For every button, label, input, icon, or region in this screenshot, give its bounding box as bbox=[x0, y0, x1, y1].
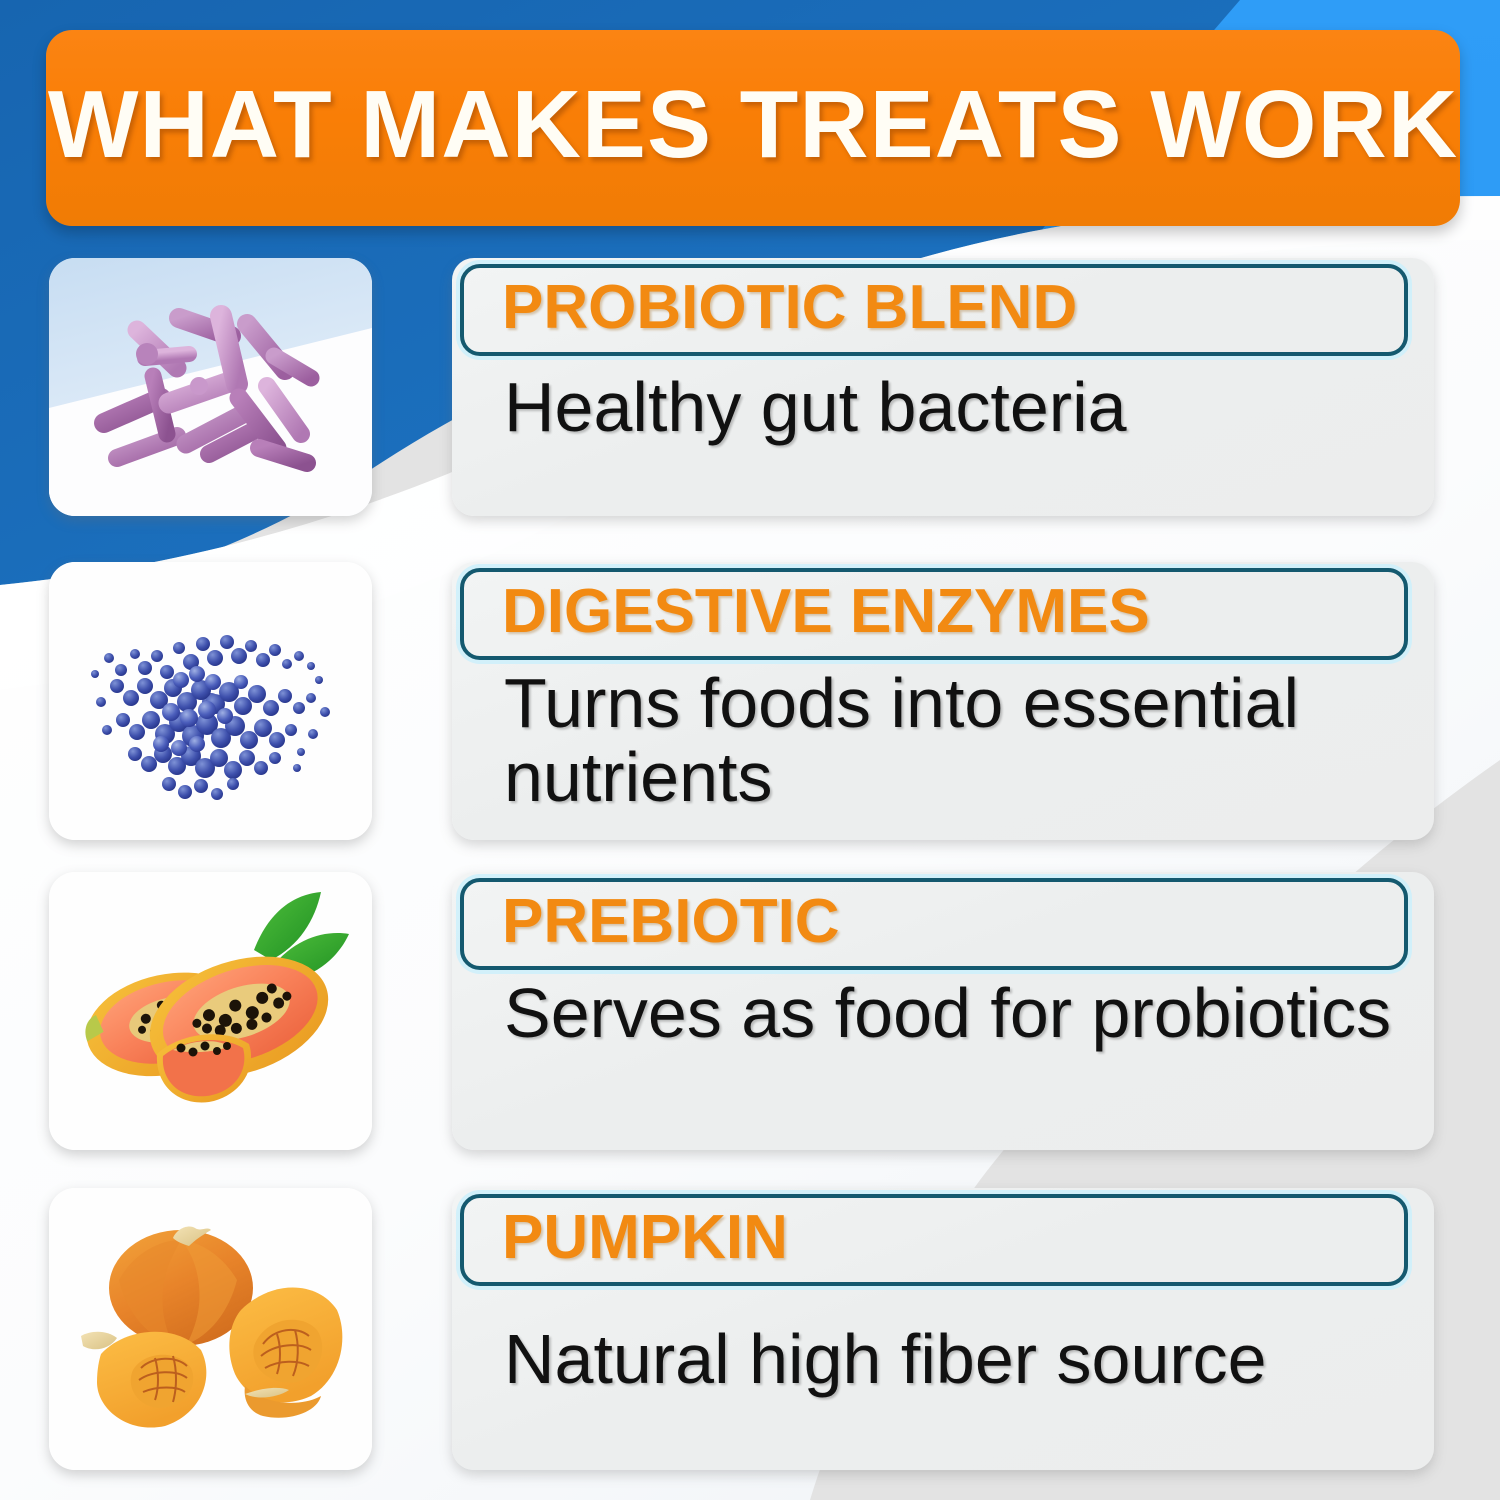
feature-description: Healthy gut bacteria bbox=[504, 370, 1408, 444]
feature-title-box: PREBIOTIC bbox=[460, 878, 1408, 970]
feature-description: Turns foods into essential nutrients bbox=[504, 666, 1408, 814]
feature-title-box: PROBIOTIC BLEND bbox=[460, 264, 1408, 356]
prebiotic-papaya-image bbox=[49, 872, 372, 1150]
feature-title-box: PUMPKIN bbox=[460, 1194, 1408, 1286]
bacteria-illustration bbox=[49, 258, 372, 516]
feature-title: PREBIOTIC bbox=[502, 891, 840, 958]
probiotic-bacteria-image bbox=[49, 258, 372, 516]
header-banner: WHAT MAKES TREATS WORK bbox=[46, 30, 1460, 226]
feature-content-card: PUMPKIN Natural high fiber source bbox=[452, 1188, 1434, 1470]
feature-description: Natural high fiber source bbox=[504, 1322, 1408, 1396]
feature-description: Serves as food for probiotics bbox=[504, 976, 1408, 1050]
feature-content-card: DIGESTIVE ENZYMES Turns foods into essen… bbox=[452, 562, 1434, 840]
feature-row: DIGESTIVE ENZYMES Turns foods into essen… bbox=[0, 562, 1500, 840]
infographic-page: WHAT MAKES TREATS WORK bbox=[0, 0, 1500, 1500]
feature-row: PUMPKIN Natural high fiber source bbox=[0, 1188, 1500, 1470]
feature-content-card: PROBIOTIC BLEND Healthy gut bacteria bbox=[452, 258, 1434, 516]
papaya-illustration bbox=[49, 872, 372, 1150]
feature-title: PUMPKIN bbox=[502, 1207, 788, 1274]
page-title: WHAT MAKES TREATS WORK bbox=[48, 77, 1458, 179]
digestive-enzymes-image bbox=[49, 562, 372, 840]
feature-row: PROBIOTIC BLEND Healthy gut bacteria bbox=[0, 258, 1500, 516]
pumpkin-image bbox=[49, 1188, 372, 1470]
feature-title: DIGESTIVE ENZYMES bbox=[502, 581, 1150, 648]
feature-title: PROBIOTIC BLEND bbox=[502, 277, 1077, 344]
feature-row: PREBIOTIC Serves as food for probiotics bbox=[0, 872, 1500, 1150]
feature-content-card: PREBIOTIC Serves as food for probiotics bbox=[452, 872, 1434, 1150]
pumpkin-illustration bbox=[49, 1188, 372, 1470]
enzyme-granules-illustration bbox=[49, 562, 372, 840]
feature-title-box: DIGESTIVE ENZYMES bbox=[460, 568, 1408, 660]
